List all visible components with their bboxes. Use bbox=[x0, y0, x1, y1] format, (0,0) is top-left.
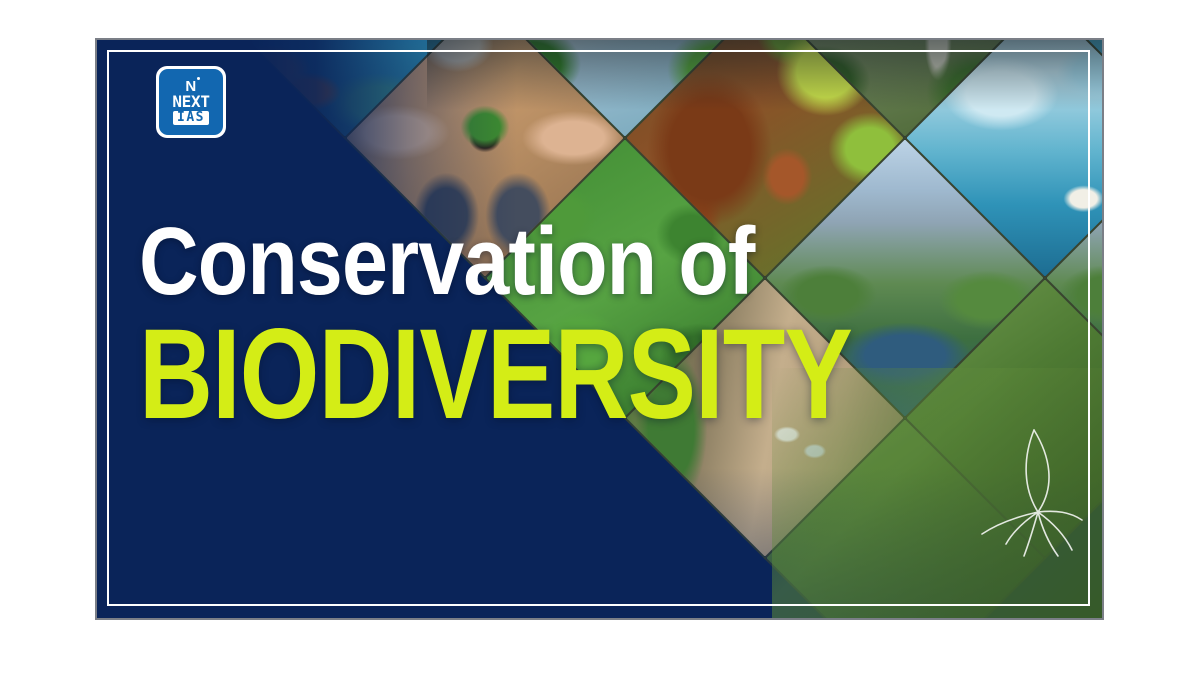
headline-line-2: BIODIVERSITY bbox=[139, 316, 852, 434]
poster-headline: Conservation of BIODIVERSITY bbox=[139, 214, 1030, 434]
logo-word-ias: IAS bbox=[173, 111, 209, 125]
headline-line-1: Conservation of bbox=[139, 214, 905, 310]
logo-letter-n: N bbox=[185, 80, 196, 93]
next-ias-logo[interactable]: N NEXT IAS bbox=[156, 66, 226, 138]
poster-stage: N NEXT IAS Conservation of BIODIVERSITY bbox=[0, 0, 1200, 675]
leaf-line-art-icon bbox=[964, 416, 1084, 566]
logo-word-next: NEXT bbox=[172, 94, 209, 110]
poster-card: N NEXT IAS Conservation of BIODIVERSITY bbox=[97, 40, 1102, 618]
